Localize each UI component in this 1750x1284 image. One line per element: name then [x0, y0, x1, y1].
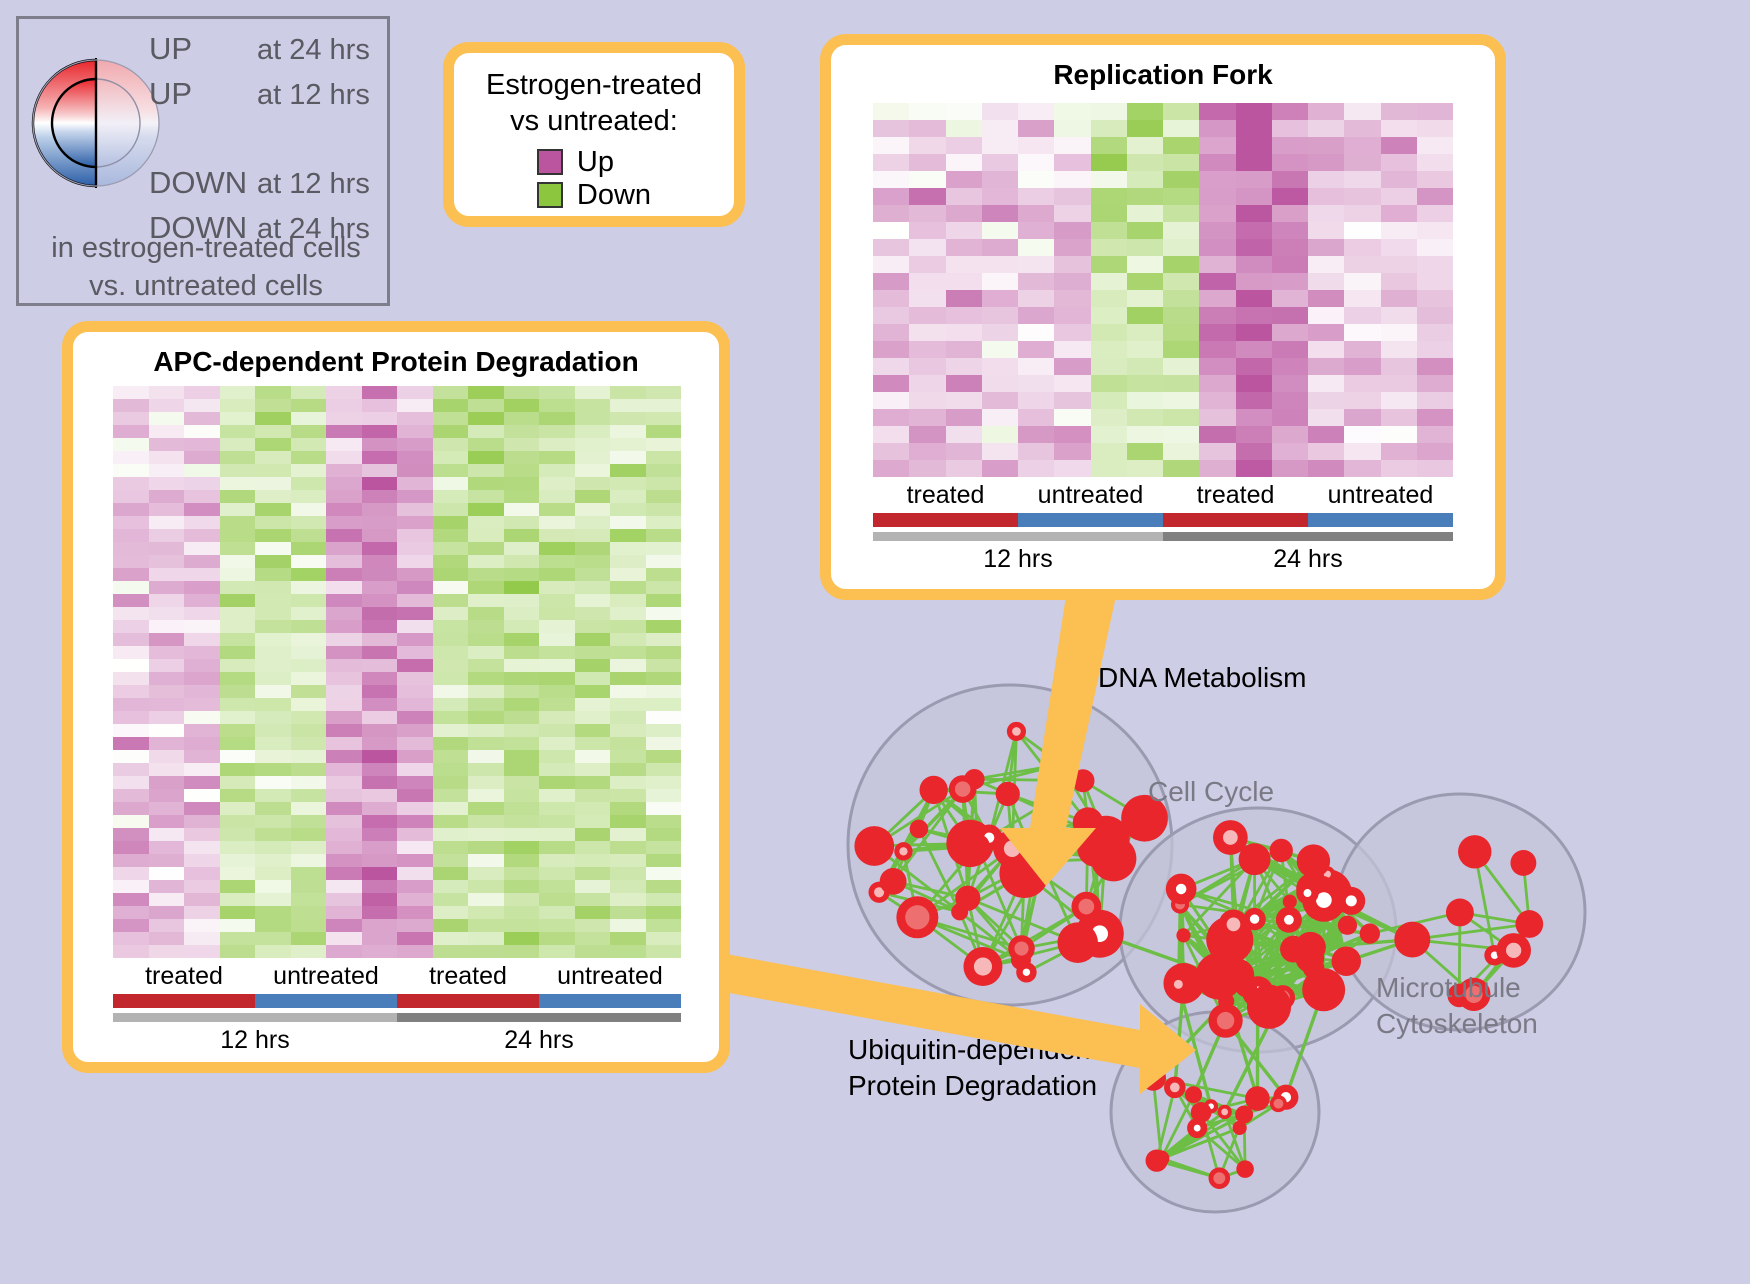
heatmap-cell	[468, 490, 504, 503]
network-node[interactable]	[1016, 962, 1036, 982]
heatmap-cell	[610, 672, 646, 685]
heatmap-cell	[504, 477, 540, 490]
heatmap-cell	[946, 290, 982, 307]
apc-degradation-title: APC-dependent Protein Degradation	[73, 346, 719, 378]
heatmap-cell	[291, 763, 327, 776]
heatmap-cell	[433, 919, 469, 932]
heatmap-cell	[1417, 358, 1453, 375]
heatmap-cell	[1381, 137, 1417, 154]
network-node[interactable]	[896, 896, 938, 938]
network-node-core	[1250, 914, 1259, 923]
network-node[interactable]	[1297, 844, 1330, 877]
heatmap-cell	[1054, 256, 1090, 273]
heatmap-cell	[1308, 256, 1344, 273]
heatmap-cell	[1417, 137, 1453, 154]
heatmap-cell	[1127, 392, 1163, 409]
sample-group-color-bar	[397, 994, 539, 1008]
heatmap-cell	[397, 659, 433, 672]
heatmap-cell	[220, 581, 256, 594]
heatmap-cell	[113, 490, 149, 503]
heatmap-cell	[291, 412, 327, 425]
heatmap-cell	[504, 503, 540, 516]
heatmap-cell	[504, 425, 540, 438]
heatmap-cell	[504, 919, 540, 932]
heatmap-cell	[220, 685, 256, 698]
heatmap-cell	[1236, 358, 1272, 375]
network-node-core	[1221, 1108, 1228, 1115]
network-node[interactable]	[1304, 975, 1338, 1009]
heatmap-cell	[646, 763, 682, 776]
heatmap-cell	[1127, 120, 1163, 137]
heatmap-cell	[909, 358, 945, 375]
heatmap-cell	[1199, 171, 1235, 188]
network-node[interactable]	[1208, 1004, 1242, 1038]
heatmap-cell	[326, 854, 362, 867]
sample-group-color-bar	[255, 994, 397, 1008]
network-node-core	[1223, 830, 1238, 845]
sample-group-color-bar	[113, 994, 255, 1008]
heatmap-cell	[1199, 392, 1235, 409]
heatmap-cell	[909, 137, 945, 154]
heatmap-cell	[113, 529, 149, 542]
heatmap-cell	[1199, 239, 1235, 256]
heatmap-cell	[982, 443, 1018, 460]
heatmap-cell	[909, 256, 945, 273]
key-label: UP	[149, 72, 257, 115]
network-node[interactable]	[1270, 839, 1293, 862]
heatmap-cell	[575, 828, 611, 841]
heatmap-cell	[362, 659, 398, 672]
heatmap-cell	[362, 724, 398, 737]
network-node[interactable]	[1176, 928, 1190, 942]
heatmap-cell	[326, 399, 362, 412]
network-node[interactable]	[963, 947, 1002, 986]
heatmap-cell	[873, 324, 909, 341]
heatmap-cell	[982, 188, 1018, 205]
heatmap-cell	[1163, 392, 1199, 409]
heatmap-cell	[575, 399, 611, 412]
network-node[interactable]	[955, 886, 980, 911]
heatmap-cell	[575, 516, 611, 529]
heatmap-cell	[1163, 171, 1199, 188]
heatmap-cell	[468, 659, 504, 672]
heatmap-cell	[433, 555, 469, 568]
heatmap-cell	[291, 854, 327, 867]
heatmap-cell	[1091, 358, 1127, 375]
heatmap-cell	[326, 607, 362, 620]
heatmap-cell	[291, 750, 327, 763]
heatmap-cell	[946, 324, 982, 341]
heatmap-cell	[149, 750, 185, 763]
heatmap-cell	[1381, 171, 1417, 188]
heatmap-cell	[504, 490, 540, 503]
heatmap-cell	[610, 906, 646, 919]
heatmap-cell	[326, 737, 362, 750]
heatmap-cell	[610, 763, 646, 776]
heatmap-cell	[291, 620, 327, 633]
heatmap-cell	[113, 425, 149, 438]
heatmap-cell	[575, 919, 611, 932]
heatmap-cell	[1091, 392, 1127, 409]
heatmap-cell	[220, 646, 256, 659]
network-node-core	[1194, 1125, 1201, 1132]
network-node[interactable]	[1032, 853, 1053, 874]
network-node[interactable]	[993, 830, 1031, 868]
heatmap-cell	[646, 438, 682, 451]
key-time: at 12 hrs	[257, 74, 370, 117]
network-node[interactable]	[894, 842, 912, 860]
heatmap-cell	[255, 633, 291, 646]
heatmap-cell	[291, 399, 327, 412]
heatmap-cell	[873, 222, 909, 239]
heatmap-cell	[1381, 460, 1417, 477]
network-node[interactable]	[1236, 1160, 1254, 1178]
heatmap-cell	[610, 646, 646, 659]
network-node[interactable]	[1296, 882, 1318, 904]
heatmap-cell	[220, 542, 256, 555]
heatmap-cell	[504, 737, 540, 750]
heatmap-cell	[1163, 307, 1199, 324]
network-node[interactable]	[920, 776, 948, 804]
network-node[interactable]	[1332, 946, 1362, 976]
heatmap-cell	[291, 438, 327, 451]
heatmap-cell	[468, 919, 504, 932]
network-node[interactable]	[1218, 1105, 1232, 1119]
heatmap-cell	[184, 854, 220, 867]
heatmap-cell	[149, 438, 185, 451]
heatmap-cell	[1127, 188, 1163, 205]
heatmap-cell	[1091, 239, 1127, 256]
heatmap-cell	[184, 906, 220, 919]
heatmap-cell	[220, 633, 256, 646]
heatmap-cell	[909, 222, 945, 239]
heatmap-cell	[362, 386, 398, 399]
heatmap-cell	[291, 919, 327, 932]
heatmap-cell	[255, 763, 291, 776]
heatmap-cell	[539, 503, 575, 516]
heatmap-cell	[646, 594, 682, 607]
up-down-ring-diagram	[31, 25, 161, 230]
heatmap-cell	[539, 815, 575, 828]
heatmap-cell	[1236, 460, 1272, 477]
heatmap-cell	[504, 594, 540, 607]
apc-timepoint-bar	[113, 1013, 681, 1022]
heatmap-cell	[909, 239, 945, 256]
heatmap-cell	[149, 672, 185, 685]
heatmap-cell	[1272, 409, 1308, 426]
heatmap-cell	[433, 542, 469, 555]
heatmap-cell	[946, 188, 982, 205]
heatmap-cell	[909, 307, 945, 324]
heatmap-cell	[326, 776, 362, 789]
heatmap-cell	[433, 412, 469, 425]
network-node[interactable]	[1510, 850, 1536, 876]
network-node[interactable]	[1168, 974, 1188, 994]
heatmap-cell	[326, 503, 362, 516]
heatmap-cell	[113, 750, 149, 763]
network-node[interactable]	[1153, 1150, 1169, 1166]
heatmap-cell	[1344, 154, 1380, 171]
heatmap-cell	[539, 763, 575, 776]
heatmap-cell	[113, 893, 149, 906]
heatmap-cell	[326, 685, 362, 698]
heatmap-cell	[433, 633, 469, 646]
heatmap-cell	[433, 438, 469, 451]
network-node[interactable]	[880, 868, 907, 895]
heatmap-cell	[149, 776, 185, 789]
network-node[interactable]	[1338, 916, 1357, 935]
heatmap-cell	[1091, 290, 1127, 307]
heatmap-cell	[909, 273, 945, 290]
heatmap-cell	[946, 137, 982, 154]
heatmap-cell	[468, 451, 504, 464]
heatmap-cell	[1344, 188, 1380, 205]
network-node[interactable]	[1140, 1065, 1166, 1091]
heatmap-cell	[184, 880, 220, 893]
heatmap-cell	[184, 568, 220, 581]
heatmap-cell	[1417, 460, 1453, 477]
heatmap-cell	[1127, 307, 1163, 324]
heatmap-cell	[255, 386, 291, 399]
network-node[interactable]	[1270, 1095, 1287, 1112]
heatmap-cell	[1018, 290, 1054, 307]
heatmap-cell	[610, 737, 646, 750]
sample-group-label: treated	[397, 962, 539, 991]
heatmap-cell	[397, 841, 433, 854]
network-node[interactable]	[1007, 722, 1026, 741]
heatmap-cell	[504, 659, 540, 672]
heatmap-cell	[1127, 154, 1163, 171]
heatmap-cell	[433, 607, 469, 620]
heatmap-cell	[1344, 273, 1380, 290]
apc-heatmap-area: treateduntreatedtreateduntreated 12 hrs2…	[113, 386, 681, 1055]
heatmap-cell	[909, 103, 945, 120]
network-node[interactable]	[1219, 910, 1249, 940]
heatmap-cell	[113, 932, 149, 945]
timepoint-label: 12 hrs	[873, 545, 1163, 574]
heatmap-cell	[1344, 460, 1380, 477]
heatmap-cell	[1199, 120, 1235, 137]
network-node[interactable]	[1209, 1167, 1231, 1189]
heatmap-cell	[610, 594, 646, 607]
sample-group-color-bar	[1308, 513, 1453, 527]
heatmap-cell	[504, 581, 540, 594]
network-node[interactable]	[1071, 892, 1101, 922]
heatmap-cell	[397, 776, 433, 789]
network-node[interactable]	[1283, 895, 1297, 909]
heatmap-cell	[946, 409, 982, 426]
heatmap-cell	[575, 802, 611, 815]
heatmap-cell	[362, 490, 398, 503]
heatmap-cell	[291, 789, 327, 802]
heatmap-cell	[1054, 341, 1090, 358]
heatmap-cell	[184, 633, 220, 646]
timepoint-color-bar	[113, 1013, 397, 1022]
heatmap-cell	[397, 607, 433, 620]
heatmap-cell	[326, 581, 362, 594]
heatmap-cell	[1199, 307, 1235, 324]
network-node[interactable]	[1072, 769, 1095, 792]
heatmap-cell	[220, 815, 256, 828]
network-node[interactable]	[996, 782, 1020, 806]
heatmap-cell	[113, 867, 149, 880]
heatmap-cell	[433, 854, 469, 867]
heatmap-cell	[610, 711, 646, 724]
network-node[interactable]	[1394, 922, 1430, 958]
heatmap-cell	[1236, 273, 1272, 290]
heatmap-cell	[982, 205, 1018, 222]
heatmap-cell	[646, 659, 682, 672]
heatmap-cell	[433, 464, 469, 477]
network-node[interactable]	[1295, 932, 1326, 963]
heatmap-cell	[113, 724, 149, 737]
heatmap-cell	[946, 273, 982, 290]
network-node[interactable]	[1515, 910, 1543, 938]
heatmap-cell	[184, 724, 220, 737]
heatmap-cell	[1199, 222, 1235, 239]
network-node[interactable]	[949, 775, 977, 803]
heatmap-cell	[184, 841, 220, 854]
network-node[interactable]	[1446, 899, 1474, 927]
heatmap-cell	[982, 375, 1018, 392]
heatmap-cell	[1199, 205, 1235, 222]
heatmap-cell	[1344, 341, 1380, 358]
timepoint-label: 12 hrs	[113, 1026, 397, 1055]
heatmap-cell	[362, 594, 398, 607]
heatmap-cell	[909, 409, 945, 426]
heatmap-cell	[433, 802, 469, 815]
heatmap-cell	[184, 503, 220, 516]
key-time: at 12 hrs	[257, 163, 370, 206]
network-node[interactable]	[854, 826, 894, 866]
heatmap-cell	[362, 646, 398, 659]
heatmap-cell	[946, 154, 982, 171]
heatmap-cell	[1308, 324, 1344, 341]
network-node[interactable]	[1091, 836, 1137, 882]
heatmap-cell	[397, 672, 433, 685]
heatmap-cell	[610, 919, 646, 932]
heatmap-cell	[468, 555, 504, 568]
network-node[interactable]	[1496, 933, 1531, 968]
heatmap-cell	[220, 711, 256, 724]
heatmap-cell	[433, 698, 469, 711]
heatmap-cell	[504, 646, 540, 659]
heatmap-cell	[468, 880, 504, 893]
heatmap-cell	[362, 789, 398, 802]
heatmap-cell	[1344, 137, 1380, 154]
heatmap-cell	[468, 607, 504, 620]
heatmap-cell	[1381, 426, 1417, 443]
heatmap-cell	[504, 542, 540, 555]
heatmap-cell	[1018, 341, 1054, 358]
heatmap-cell	[610, 451, 646, 464]
heatmap-cell	[539, 529, 575, 542]
network-node[interactable]	[1008, 935, 1035, 962]
network-node-core	[1284, 915, 1294, 925]
heatmap-cell	[539, 386, 575, 399]
heatmap-cell	[1054, 120, 1090, 137]
heatmap-cell	[433, 880, 469, 893]
heatmap-cell	[1236, 392, 1272, 409]
heatmap-cell	[504, 607, 540, 620]
heatmap-cell	[468, 854, 504, 867]
network-node[interactable]	[965, 834, 990, 859]
heatmap-cell	[113, 841, 149, 854]
heatmap-cell	[504, 854, 540, 867]
heatmap-cell	[1272, 239, 1308, 256]
heatmap-cell	[362, 841, 398, 854]
heatmap-cell	[646, 672, 682, 685]
heatmap-cell	[1417, 222, 1453, 239]
network-node[interactable]	[1222, 959, 1254, 991]
heatmap-cell	[326, 815, 362, 828]
heatmap-cell	[326, 516, 362, 529]
network-node[interactable]	[1239, 843, 1271, 875]
heatmap-cell	[1054, 273, 1090, 290]
heatmap-cell	[982, 171, 1018, 188]
heatmap-cell	[433, 672, 469, 685]
heatmap-cell	[397, 568, 433, 581]
network-node[interactable]	[1166, 874, 1197, 905]
network-node[interactable]	[1276, 907, 1302, 933]
heatmap-cell	[575, 633, 611, 646]
network-node[interactable]	[1185, 1086, 1202, 1103]
heatmap-cell	[1163, 375, 1199, 392]
heatmap-cell	[326, 568, 362, 581]
network-node[interactable]	[1164, 1077, 1186, 1099]
heatmap-cell	[291, 672, 327, 685]
heatmap-cell	[504, 906, 540, 919]
heatmap-cell	[646, 555, 682, 568]
heatmap-cell	[946, 392, 982, 409]
network-node[interactable]	[1360, 923, 1380, 943]
heatmap-cell	[184, 789, 220, 802]
network-node[interactable]	[1191, 1102, 1212, 1123]
heatmap-cell	[1199, 375, 1235, 392]
network-node[interactable]	[910, 820, 929, 839]
heatmap-cell	[1163, 205, 1199, 222]
heatmap-cell	[397, 828, 433, 841]
heatmap-cell	[504, 724, 540, 737]
heatmap-cell	[433, 451, 469, 464]
heatmap-cell	[255, 815, 291, 828]
network-node[interactable]	[1045, 749, 1076, 780]
heatmap-cell	[113, 737, 149, 750]
heatmap-cell	[1163, 409, 1199, 426]
heatmap-cell	[575, 659, 611, 672]
heatmap-cell	[1054, 460, 1090, 477]
network-node[interactable]	[1243, 908, 1265, 930]
heatmap-cell	[504, 880, 540, 893]
heatmap-cell	[184, 802, 220, 815]
heatmap-cell	[1091, 460, 1127, 477]
heatmap-cell	[909, 426, 945, 443]
heatmap-cell	[1272, 103, 1308, 120]
network-node[interactable]	[1057, 922, 1098, 963]
heatmap-cell	[575, 867, 611, 880]
heatmap-cell	[1272, 358, 1308, 375]
network-node[interactable]	[1247, 985, 1291, 1029]
heatmap-cell	[113, 412, 149, 425]
network-node[interactable]	[1235, 1106, 1253, 1124]
heatmap-cell	[149, 919, 185, 932]
heatmap-cell	[1018, 307, 1054, 324]
network-node[interactable]	[1458, 835, 1491, 868]
heatmap-cell	[433, 516, 469, 529]
heatmap-cell	[184, 672, 220, 685]
heatmap-cell	[873, 290, 909, 307]
heatmap-cell	[575, 438, 611, 451]
